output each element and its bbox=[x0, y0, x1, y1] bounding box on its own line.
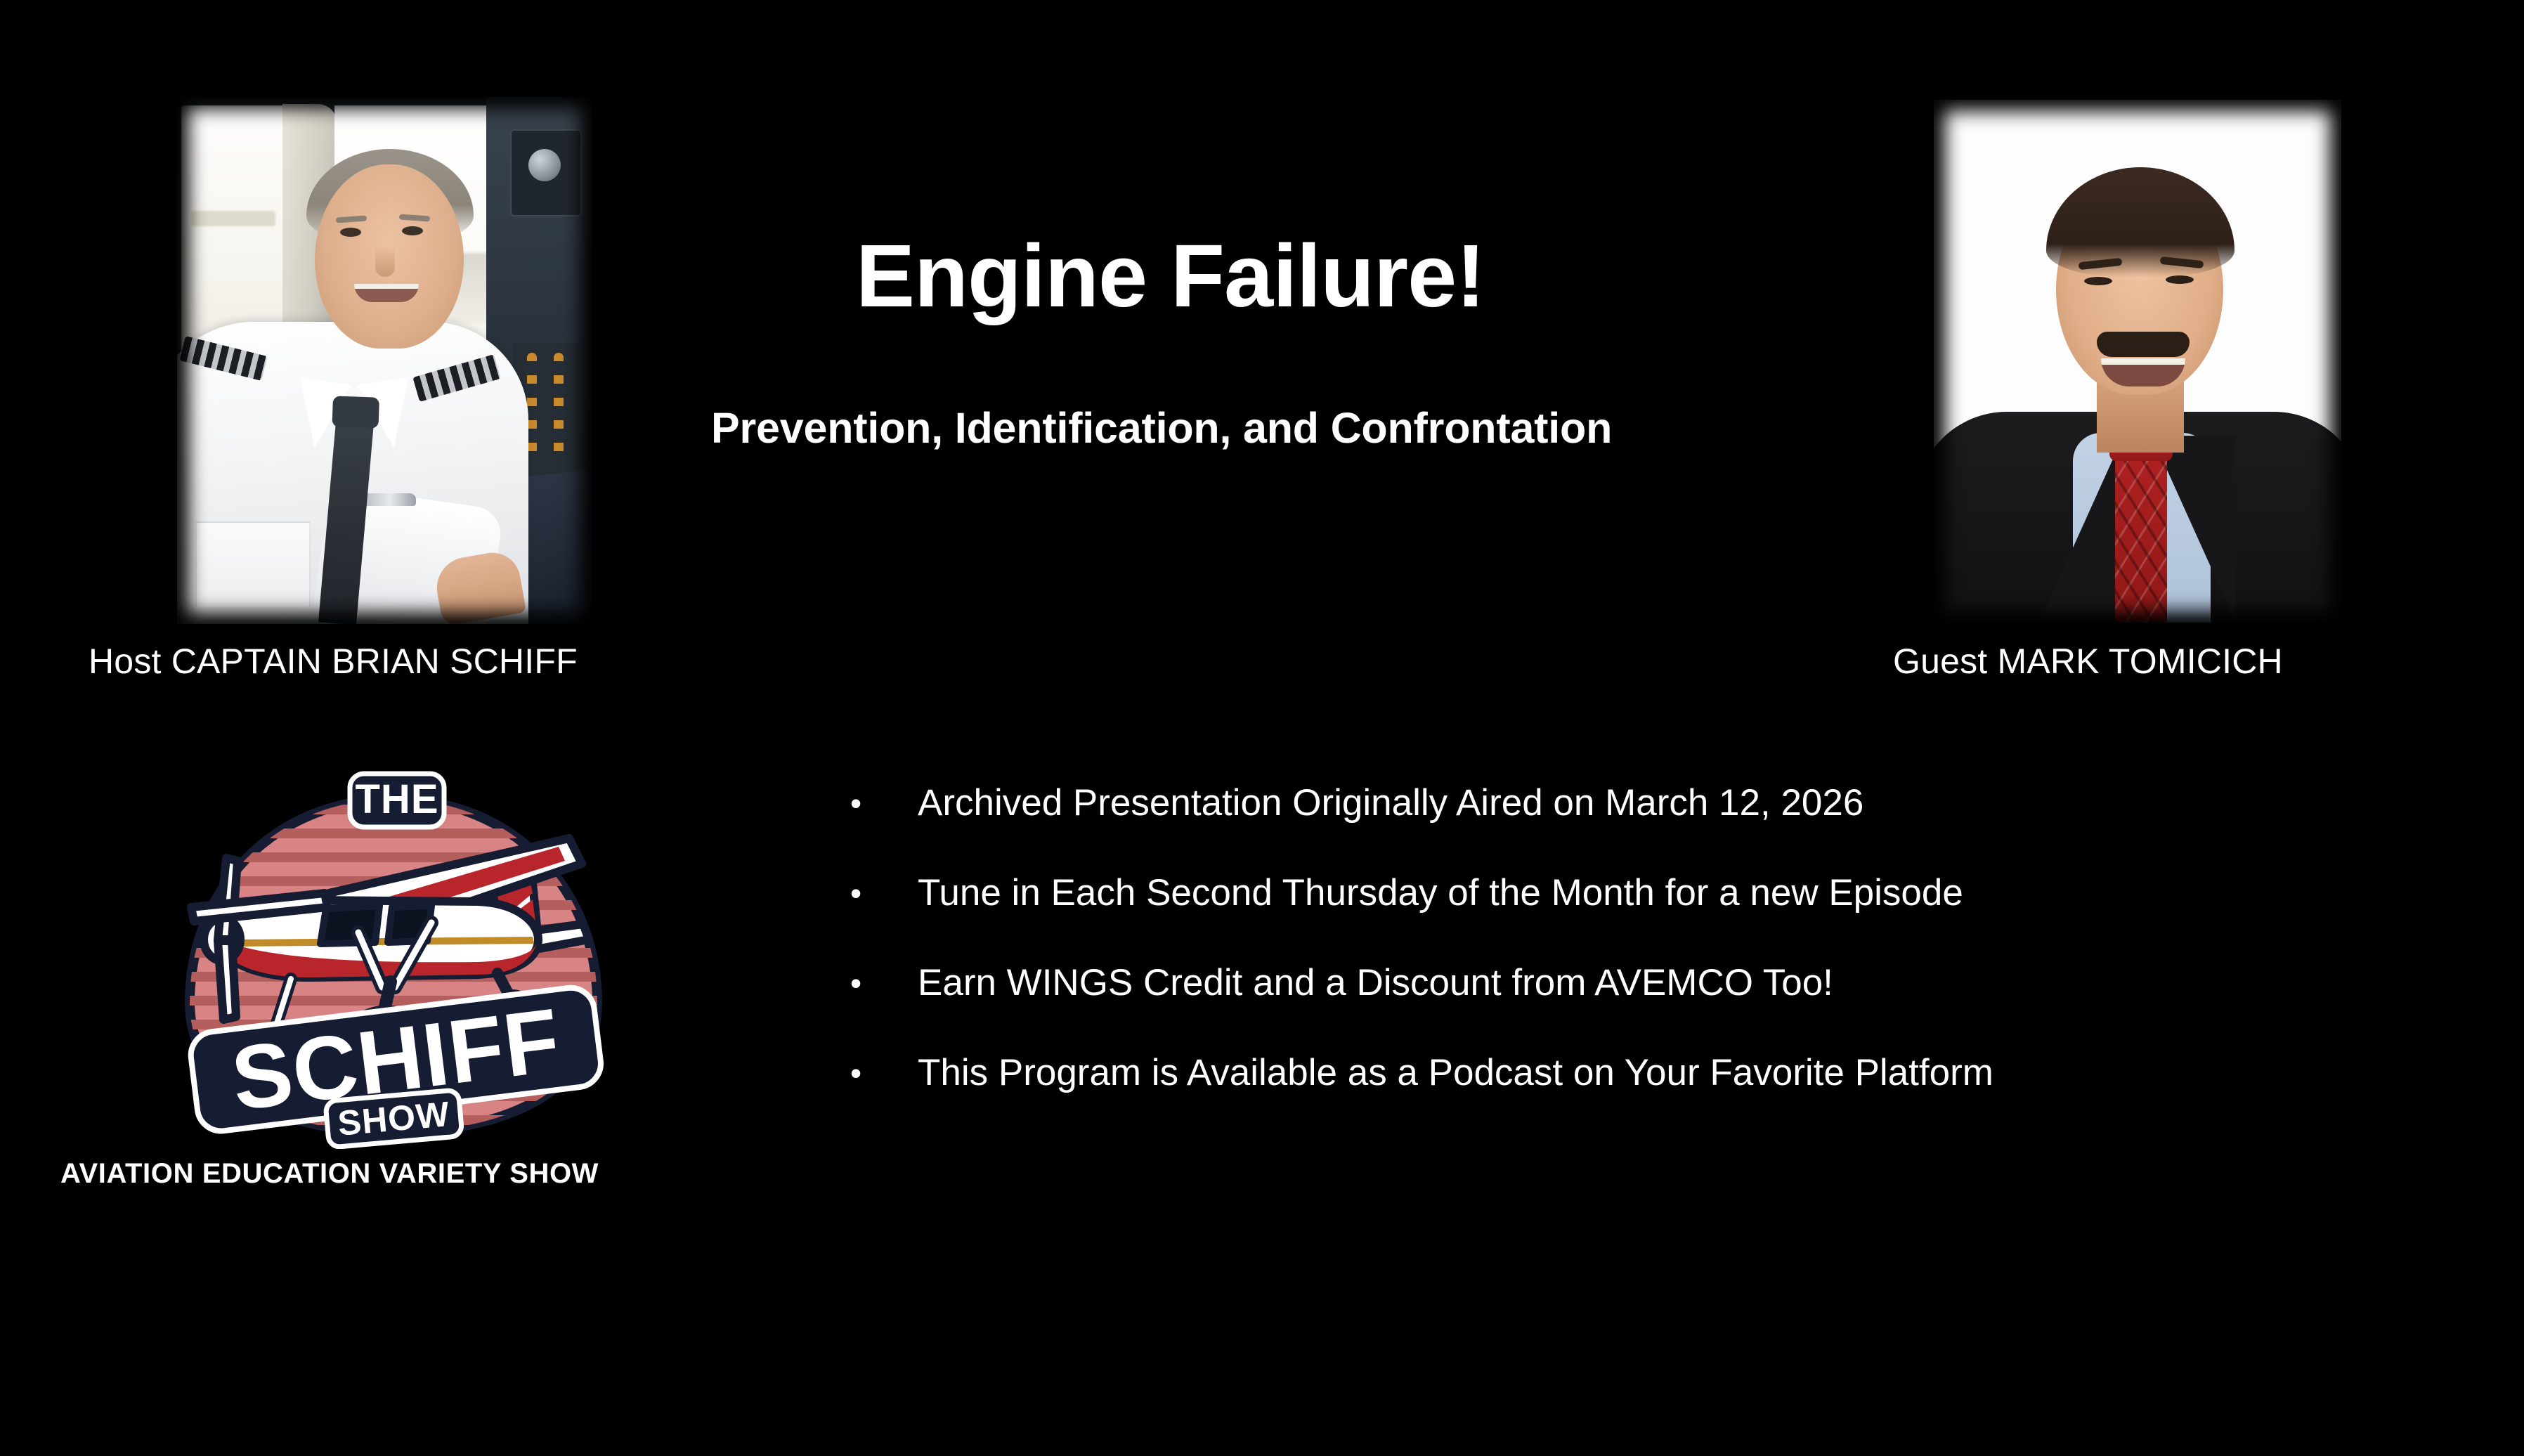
guest-eye-left bbox=[2084, 277, 2112, 285]
guest-necktie bbox=[2115, 448, 2167, 623]
host-photo bbox=[177, 97, 592, 624]
list-item: • Earn WINGS Credit and a Discount from … bbox=[833, 960, 2471, 1050]
logo-banner-the: THE bbox=[350, 774, 444, 827]
slide-title: Engine Failure! bbox=[856, 232, 1485, 320]
host-caption: Host CAPTAIN BRIAN SCHIFF bbox=[89, 641, 578, 682]
list-item-label: This Program is Available as a Podcast o… bbox=[918, 1050, 1993, 1096]
slide-root: Host CAPTAIN BRIAN SCHIFF Guest MARK TOM… bbox=[0, 0, 2524, 1456]
list-item: • Tune in Each Second Thursday of the Mo… bbox=[833, 870, 2471, 960]
svg-text:THE: THE bbox=[356, 776, 439, 822]
pilot-eye-right bbox=[402, 226, 423, 235]
bullet-marker-icon: • bbox=[833, 870, 918, 916]
list-item: • This Program is Available as a Podcast… bbox=[833, 1050, 2471, 1140]
list-item: • Archived Presentation Originally Aired… bbox=[833, 780, 2471, 870]
cockpit-switch-panel bbox=[510, 129, 582, 216]
pilot-smile bbox=[354, 284, 419, 302]
bullet-list: • Archived Presentation Originally Aired… bbox=[833, 780, 2471, 1140]
schiff-show-logo-icon: THE SCHIFF SHOW bbox=[148, 755, 639, 1149]
schiff-show-logo: THE SCHIFF SHOW bbox=[148, 755, 639, 1149]
pilot-shirt-pocket bbox=[195, 521, 311, 609]
bullet-marker-icon: • bbox=[833, 960, 918, 1006]
guest-mustache bbox=[2097, 332, 2190, 357]
guest-photo bbox=[1934, 100, 2341, 623]
pilot-eye-left bbox=[340, 228, 361, 237]
bullet-marker-icon: • bbox=[833, 780, 918, 826]
list-item-label: Earn WINGS Credit and a Discount from AV… bbox=[918, 960, 1833, 1006]
logo-plate-show: SHOW bbox=[325, 1090, 462, 1148]
guest-caption: Guest MARK TOMICICH bbox=[1893, 641, 2283, 682]
guest-eye-right bbox=[2166, 275, 2194, 284]
bullet-marker-icon: • bbox=[833, 1050, 918, 1096]
list-item-label: Tune in Each Second Thursday of the Mont… bbox=[918, 870, 1963, 916]
list-item-label: Archived Presentation Originally Aired o… bbox=[918, 780, 1863, 826]
pilot-wings-badge bbox=[364, 493, 416, 506]
pilot-nose bbox=[375, 246, 395, 277]
logo-caption: AVIATION EDUCATION VARIETY SHOW bbox=[60, 1158, 599, 1190]
guest-lapel-left bbox=[2039, 436, 2123, 623]
slide-subtitle: Prevention, Identification, and Confront… bbox=[711, 403, 1612, 453]
